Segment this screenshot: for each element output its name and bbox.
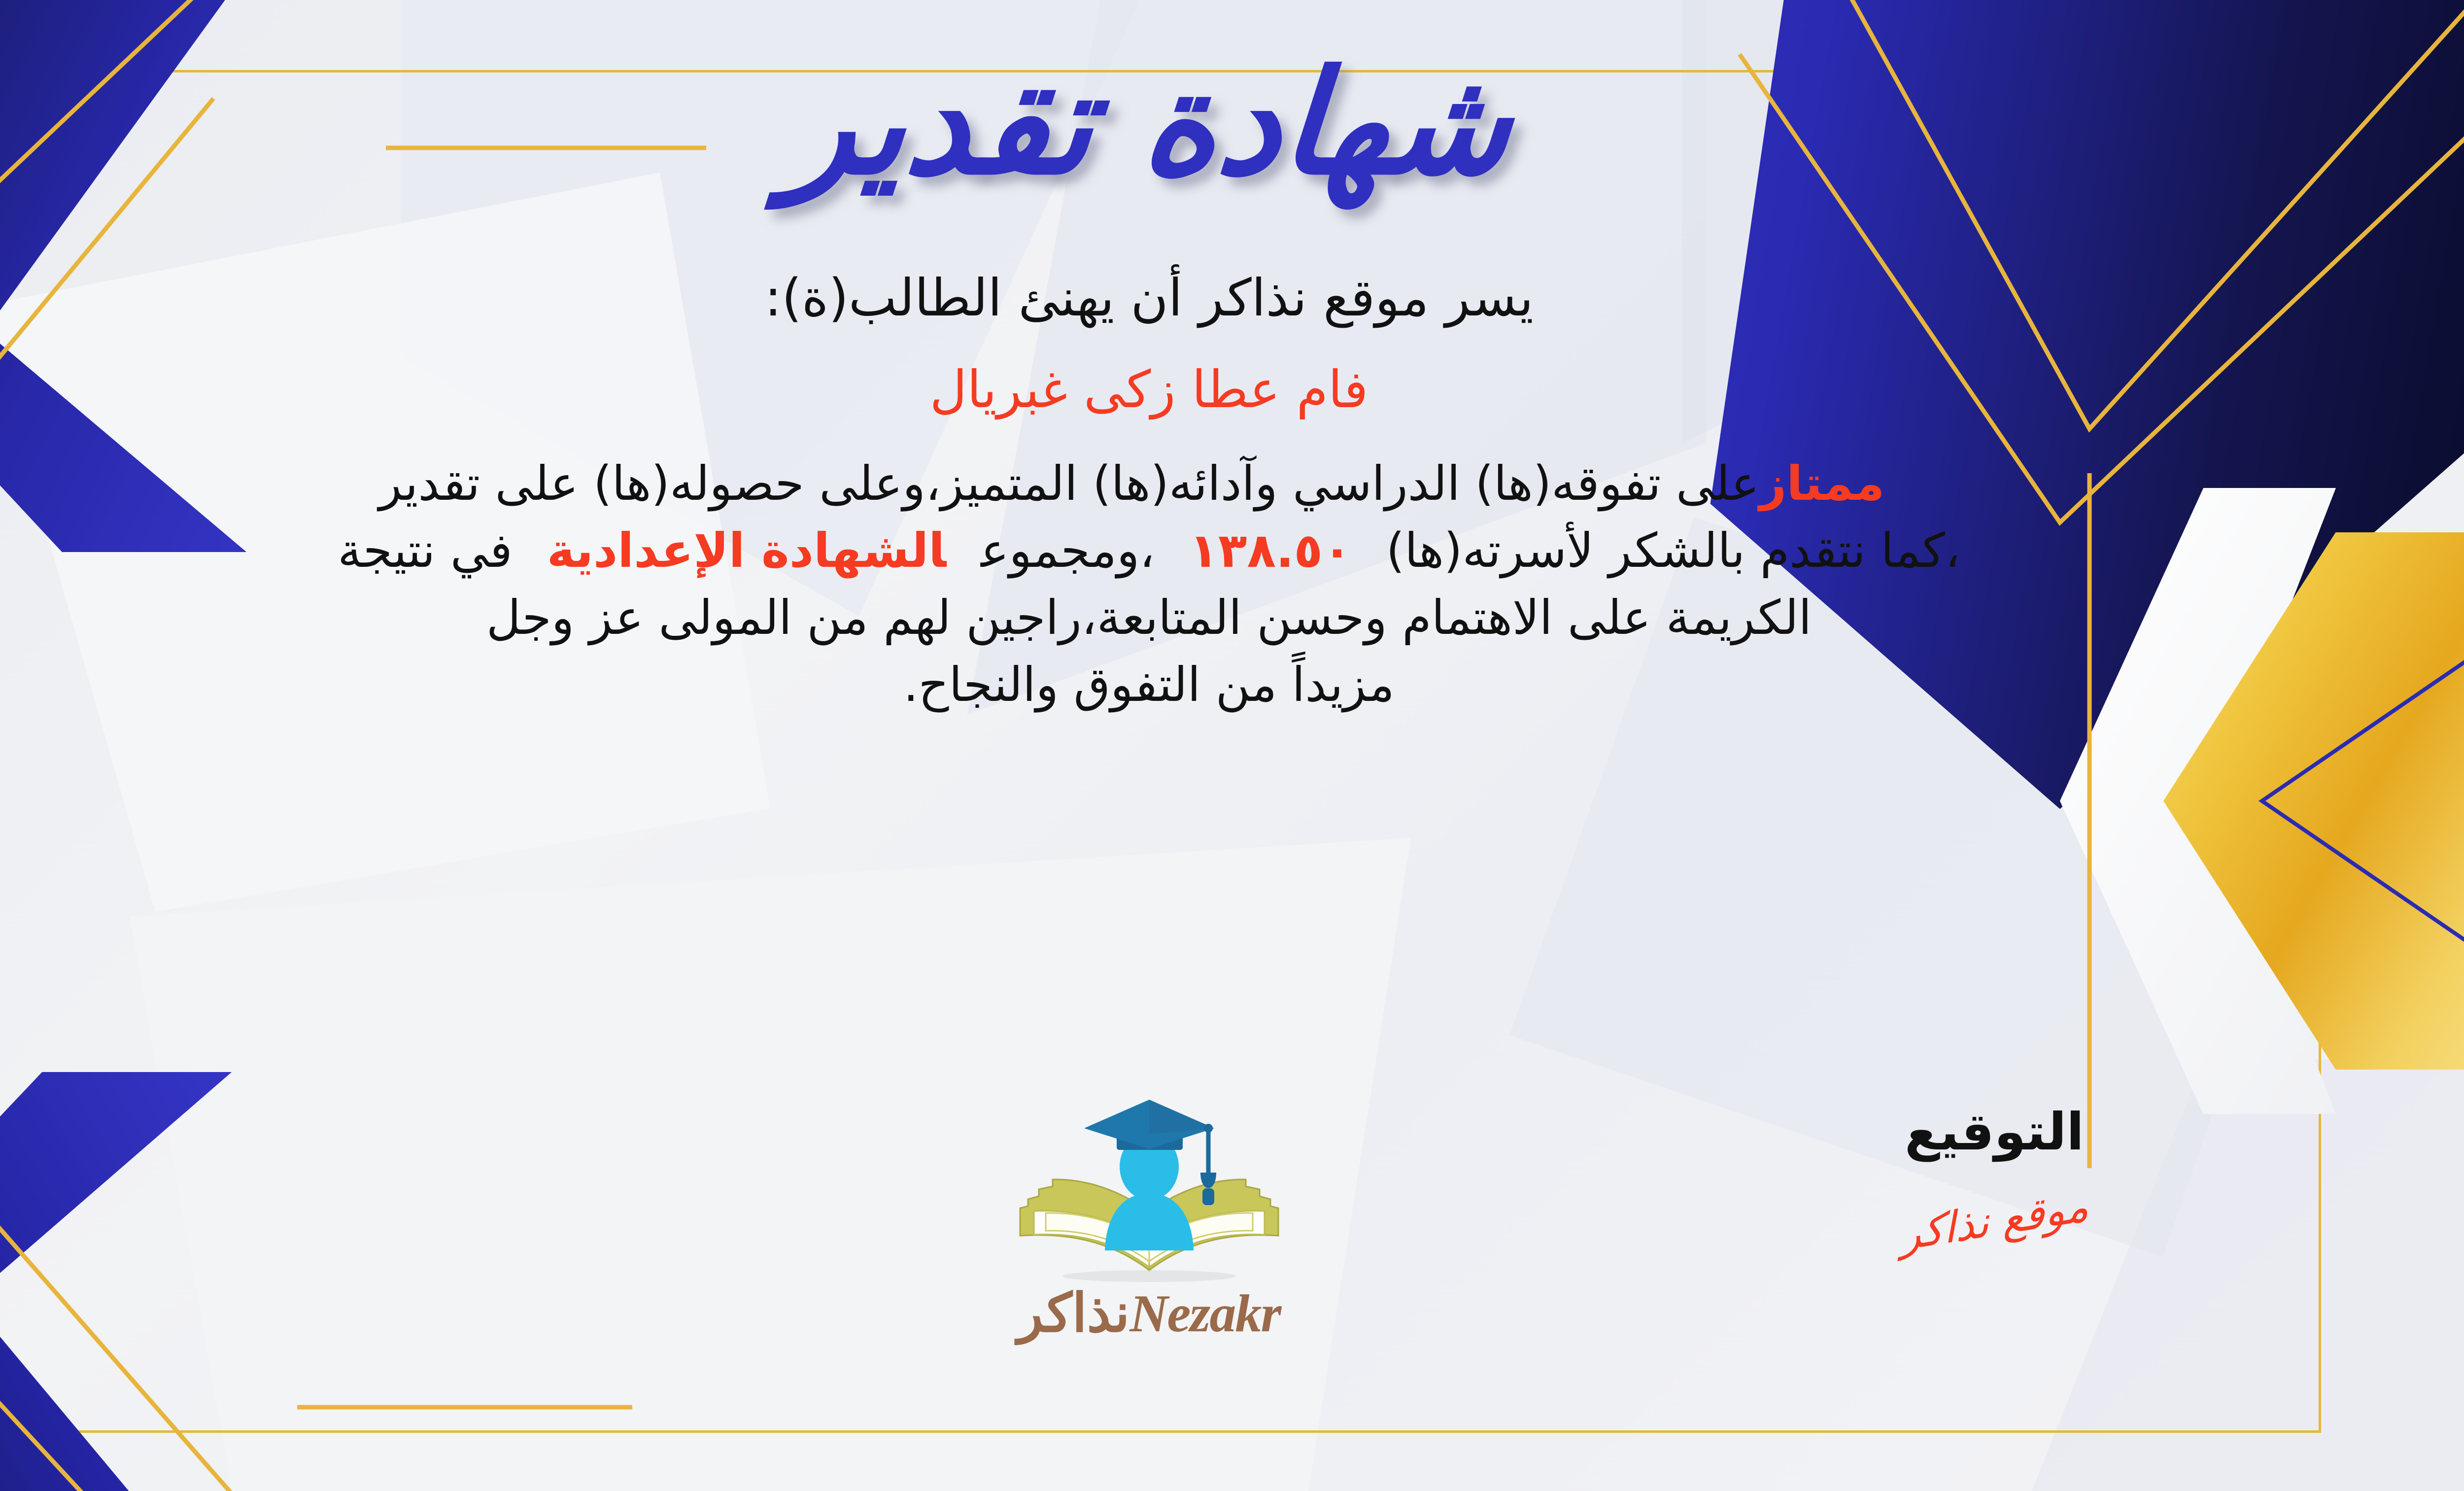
- graduate-book-logo-icon: [992, 1092, 1307, 1289]
- logo-wordmark: Nezakrنذاكر: [947, 1282, 1351, 1345]
- signature-label: التوقيع: [1899, 1102, 2089, 1162]
- body-line-2: ،كما نتقدم بالشكر لأسرته(ها)١٣٨.٥٠،ومجمو…: [35, 517, 2263, 584]
- certificate-page: شهادة تقدير يسر موقع نذاكر أن يهنئ الطال…: [0, 0, 2464, 1491]
- grade-value: ممتاز: [1759, 456, 1884, 511]
- signature-mark: موقع نذاكر: [1899, 1181, 2090, 1261]
- certificate-body: ممتازعلى تفوقه(ها) الدراسي وآدائه(ها) ال…: [35, 450, 2263, 719]
- congratulation-line: يسر موقع نذاكر أن يهنئ الطالب(ة):: [764, 268, 1534, 328]
- body-line-4: مزيداً من التفوق والنجاح.: [35, 651, 2263, 718]
- body-line-2-tail: ،كما نتقدم بالشكر لأسرته(ها): [1386, 523, 1960, 578]
- certificate-footer: التوقيع موقع نذاكر: [0, 1102, 2464, 1397]
- body-line-2-head: في نتيجة: [338, 523, 513, 578]
- logo-wordmark-latin: Nezakr: [1129, 1284, 1280, 1343]
- certificate-title: شهادة تقدير: [781, 35, 1517, 213]
- body-line-1: ممتازعلى تفوقه(ها) الدراسي وآدائه(ها) ال…: [35, 450, 2263, 517]
- body-line-1-text: على تفوقه(ها) الدراسي وآدائه(ها) المتميز…: [379, 456, 1759, 511]
- logo-wordmark-arabic: نذاكر: [1018, 1282, 1130, 1344]
- total-score: ١٣٨.٥٠: [1189, 523, 1351, 578]
- body-line-2-middle: ،ومجموع: [981, 523, 1155, 578]
- exam-name: الشهادة الإعدادية: [547, 523, 946, 578]
- signature-block: التوقيع موقع نذاكر: [1899, 1102, 2089, 1246]
- site-logo: Nezakrنذاكر: [947, 1092, 1351, 1345]
- student-name: فام عطا زكى غبريال: [930, 359, 1369, 419]
- body-line-3: الكريمة على الاهتمام وحسن المتابعة،راجين…: [35, 584, 2263, 651]
